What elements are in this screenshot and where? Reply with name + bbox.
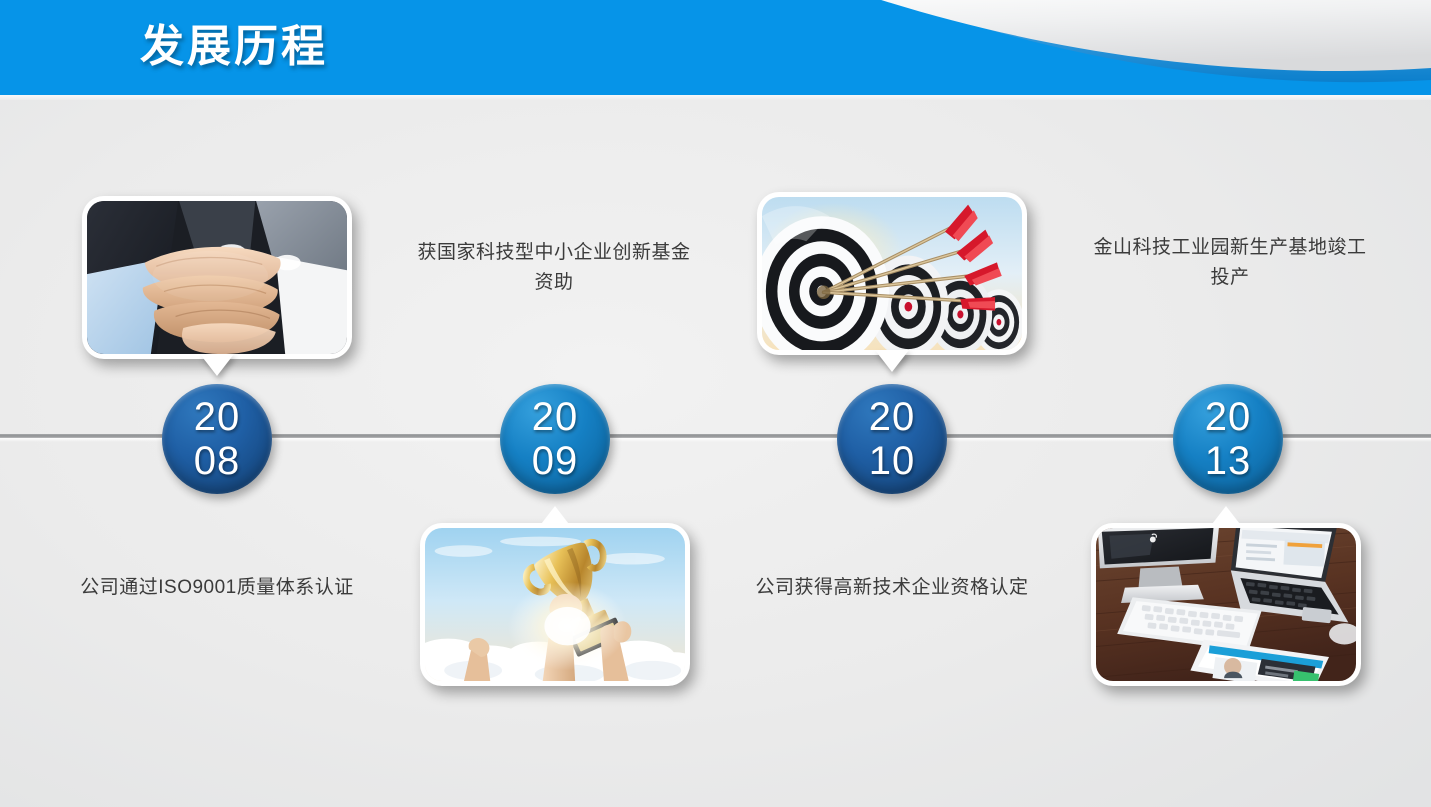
photo-frame <box>762 197 1022 350</box>
year-top-2013: 20 <box>1205 395 1252 439</box>
photo-frame <box>1096 528 1356 681</box>
year-circle-2008[interactable]: 20 08 <box>162 384 272 494</box>
slide-canvas: 发展历程 <box>0 0 1431 807</box>
photo-tail-pointer <box>1209 506 1243 528</box>
photo-frame <box>425 528 685 681</box>
photo-tail-pointer <box>200 354 234 376</box>
page-title: 发展历程 <box>140 16 328 78</box>
year-top-2010: 20 <box>869 395 916 439</box>
archery-target-photo[interactable] <box>757 192 1027 355</box>
team-hands-photo[interactable] <box>82 196 352 359</box>
header-underline <box>0 95 1431 100</box>
trophy-photo[interactable] <box>420 523 690 686</box>
photo-frame <box>87 201 347 354</box>
year-top-2008: 20 <box>194 395 241 439</box>
slide-header: 发展历程 <box>0 0 1431 95</box>
archery-target-illustration <box>762 197 1022 350</box>
caption-2010: 公司获得高新技术企业资格认定 <box>752 573 1032 603</box>
caption-2013: 金山科技工业园新生产基地竣工投产 <box>1090 233 1370 293</box>
trophy-illustration <box>425 528 685 681</box>
caption-2008: 公司通过ISO9001质量体系认证 <box>77 573 357 603</box>
year-circle-2010[interactable]: 20 10 <box>837 384 947 494</box>
header-swoosh-decoration <box>611 0 1431 95</box>
year-bottom-2008: 08 <box>194 439 241 483</box>
year-circle-2009[interactable]: 20 09 <box>500 384 610 494</box>
office-desk-photo[interactable] <box>1091 523 1361 686</box>
caption-2009: 获国家科技型中小企业创新基金资助 <box>414 238 694 298</box>
year-bottom-2010: 10 <box>869 439 916 483</box>
year-circle-2013[interactable]: 20 13 <box>1173 384 1283 494</box>
photo-tail-pointer <box>538 506 572 528</box>
year-top-2009: 20 <box>532 395 579 439</box>
year-bottom-2013: 13 <box>1205 439 1252 483</box>
year-bottom-2009: 09 <box>532 439 579 483</box>
office-desk-illustration <box>1096 528 1356 681</box>
team-hands-illustration <box>87 201 347 354</box>
photo-tail-pointer <box>875 350 909 372</box>
